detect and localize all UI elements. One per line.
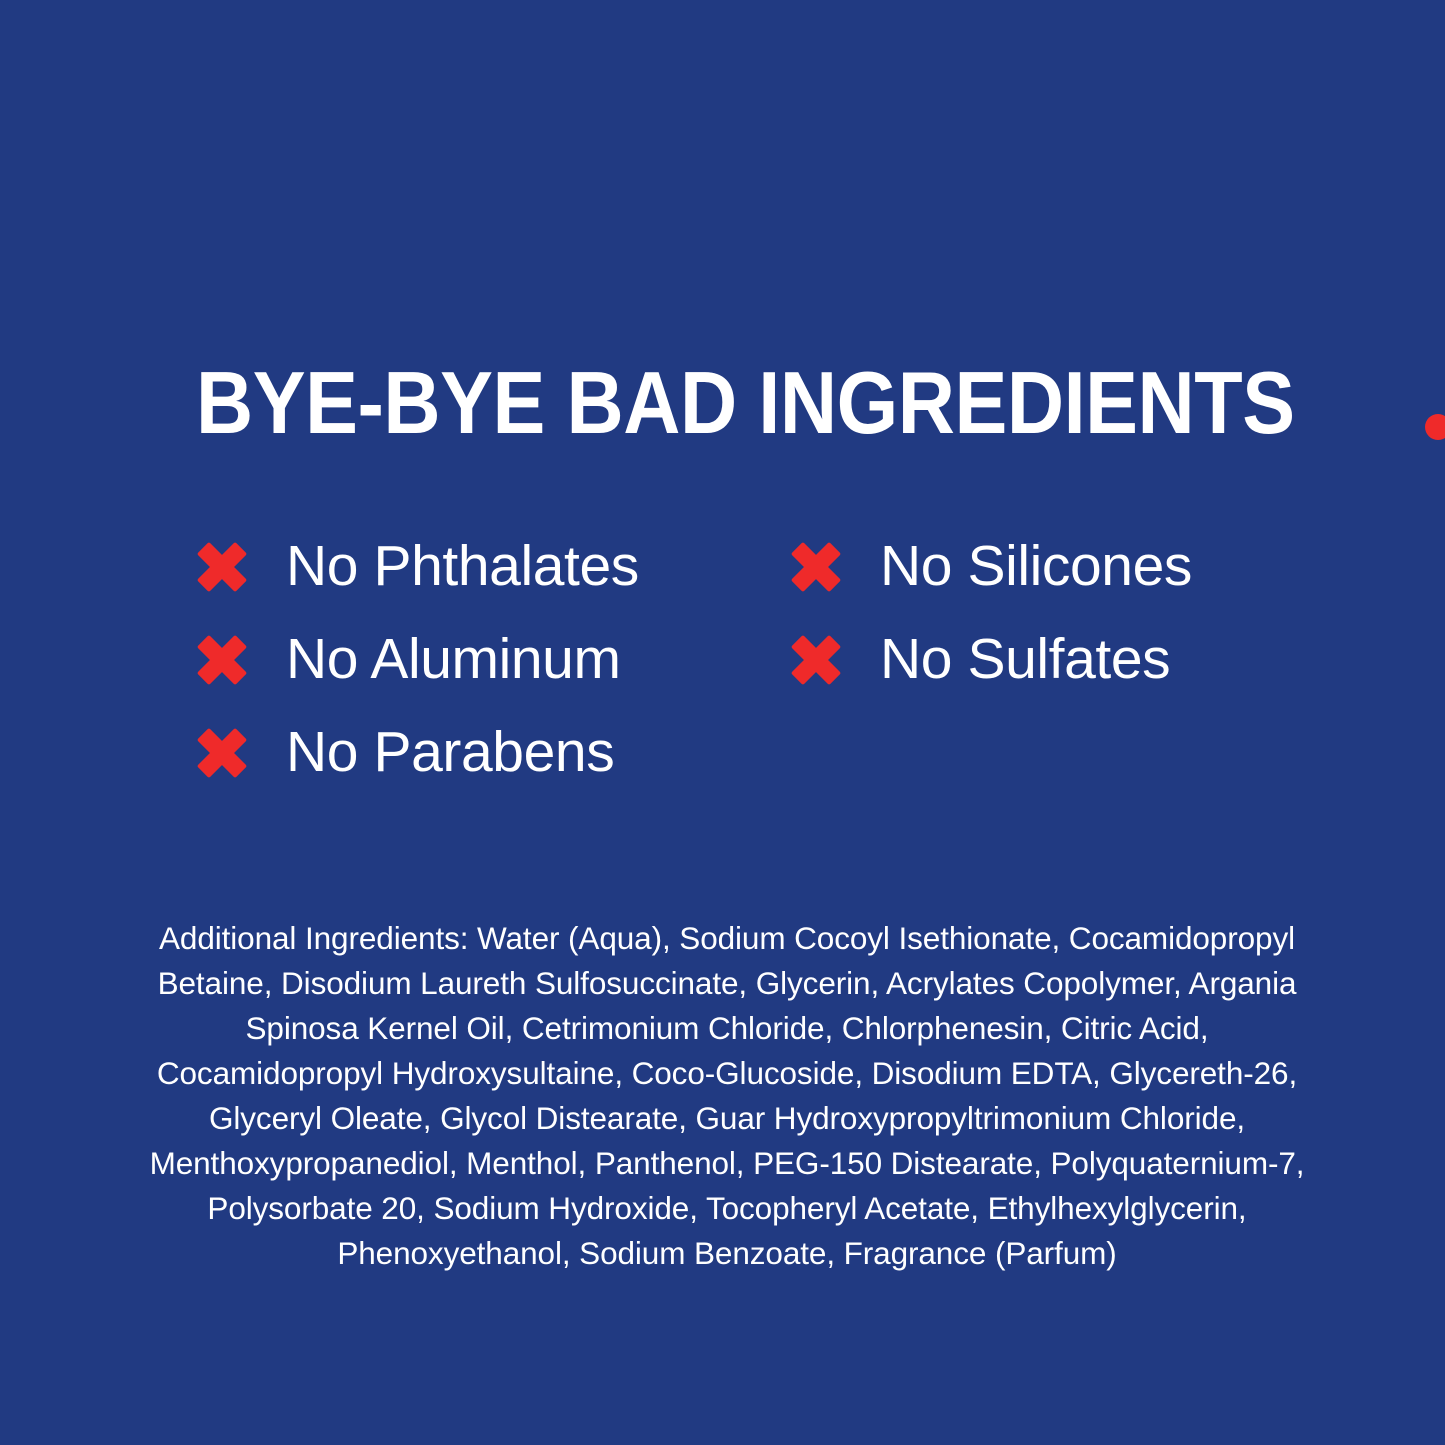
additional-ingredients-text: Additional Ingredients: Water (Aqua), So… bbox=[144, 916, 1310, 1276]
claims-column-right: No Silicones No Sulfates bbox=[790, 520, 1192, 706]
red-x-icon bbox=[790, 634, 842, 686]
red-x-icon bbox=[790, 541, 842, 593]
claim-label: No Sulfates bbox=[880, 631, 1170, 688]
product-claims-panel: BYE-BYE BAD INGREDIENTS No Phthalates No… bbox=[0, 0, 1445, 1445]
claim-item-phthalates: No Phthalates bbox=[196, 520, 639, 613]
claim-item-sulfates: No Sulfates bbox=[790, 613, 1192, 706]
claim-label: No Phthalates bbox=[286, 538, 639, 595]
red-x-icon bbox=[196, 634, 248, 686]
claim-item-parabens: No Parabens bbox=[196, 706, 639, 799]
red-x-icon bbox=[196, 727, 248, 779]
title-period-dot bbox=[1425, 414, 1445, 440]
claim-item-silicones: No Silicones bbox=[790, 520, 1192, 613]
claim-label: No Parabens bbox=[286, 724, 614, 781]
claim-item-aluminum: No Aluminum bbox=[196, 613, 639, 706]
claim-label: No Aluminum bbox=[286, 631, 621, 688]
claims-column-left: No Phthalates No Aluminum No Parabens bbox=[196, 520, 639, 799]
page-title: BYE-BYE BAD INGREDIENTS bbox=[196, 352, 1296, 444]
page-title-text: BYE-BYE BAD INGREDIENTS bbox=[196, 363, 1295, 444]
claim-label: No Silicones bbox=[880, 538, 1192, 595]
red-x-icon bbox=[196, 541, 248, 593]
